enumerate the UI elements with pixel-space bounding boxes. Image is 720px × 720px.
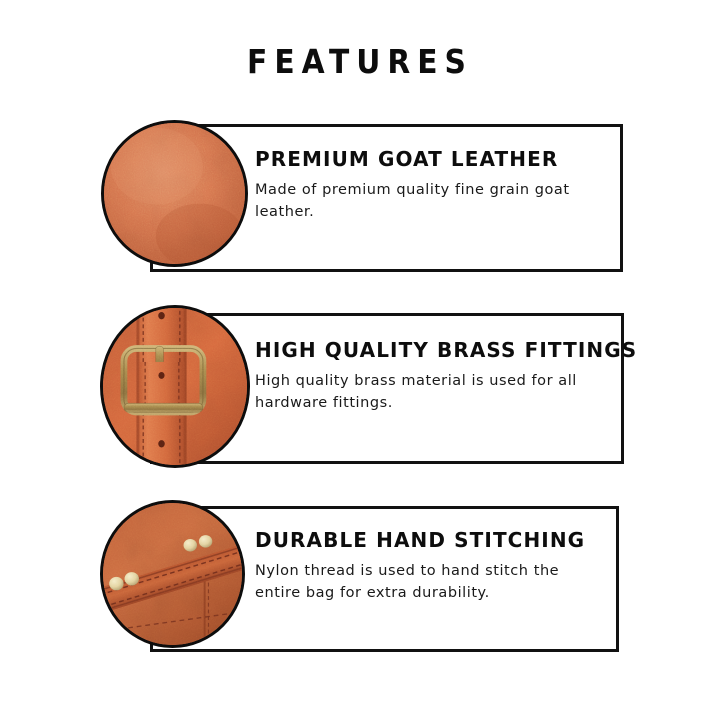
feature-body: Made of premium quality fine grain goat … xyxy=(255,180,595,224)
feature-text-block: DURABLE HAND STITCHING Nylon thread is u… xyxy=(255,528,595,605)
brass-buckle-strap-photo xyxy=(103,308,247,465)
goat-leather-grain-photo xyxy=(104,123,245,264)
feature-image-circle xyxy=(101,120,248,267)
feature-row-durable-hand-stitching: DURABLE HAND STITCHING Nylon thread is u… xyxy=(0,506,720,653)
feature-heading: PREMIUM GOAT LEATHER xyxy=(255,147,595,171)
feature-heading: DURABLE HAND STITCHING xyxy=(255,528,595,552)
feature-row-high-quality-brass-fittings: HIGH QUALITY BRASS FITTINGS High quality… xyxy=(0,313,720,465)
hand-stitching-rivets-photo xyxy=(103,503,242,645)
page-title: FEATURES xyxy=(0,42,720,81)
feature-text-block: HIGH QUALITY BRASS FITTINGS High quality… xyxy=(255,338,637,415)
feature-text-block: PREMIUM GOAT LEATHER Made of premium qua… xyxy=(255,147,595,224)
feature-image-circle xyxy=(100,500,245,648)
feature-heading: HIGH QUALITY BRASS FITTINGS xyxy=(255,338,637,362)
feature-row-premium-goat-leather: PREMIUM GOAT LEATHER Made of premium qua… xyxy=(0,124,720,274)
features-infographic: FEATURES PREMIUM GOAT LEATHER Made of pr… xyxy=(0,0,720,720)
feature-body: High quality brass material is used for … xyxy=(255,371,595,415)
feature-image-circle xyxy=(100,305,250,468)
feature-body: Nylon thread is used to hand stitch the … xyxy=(255,561,595,605)
